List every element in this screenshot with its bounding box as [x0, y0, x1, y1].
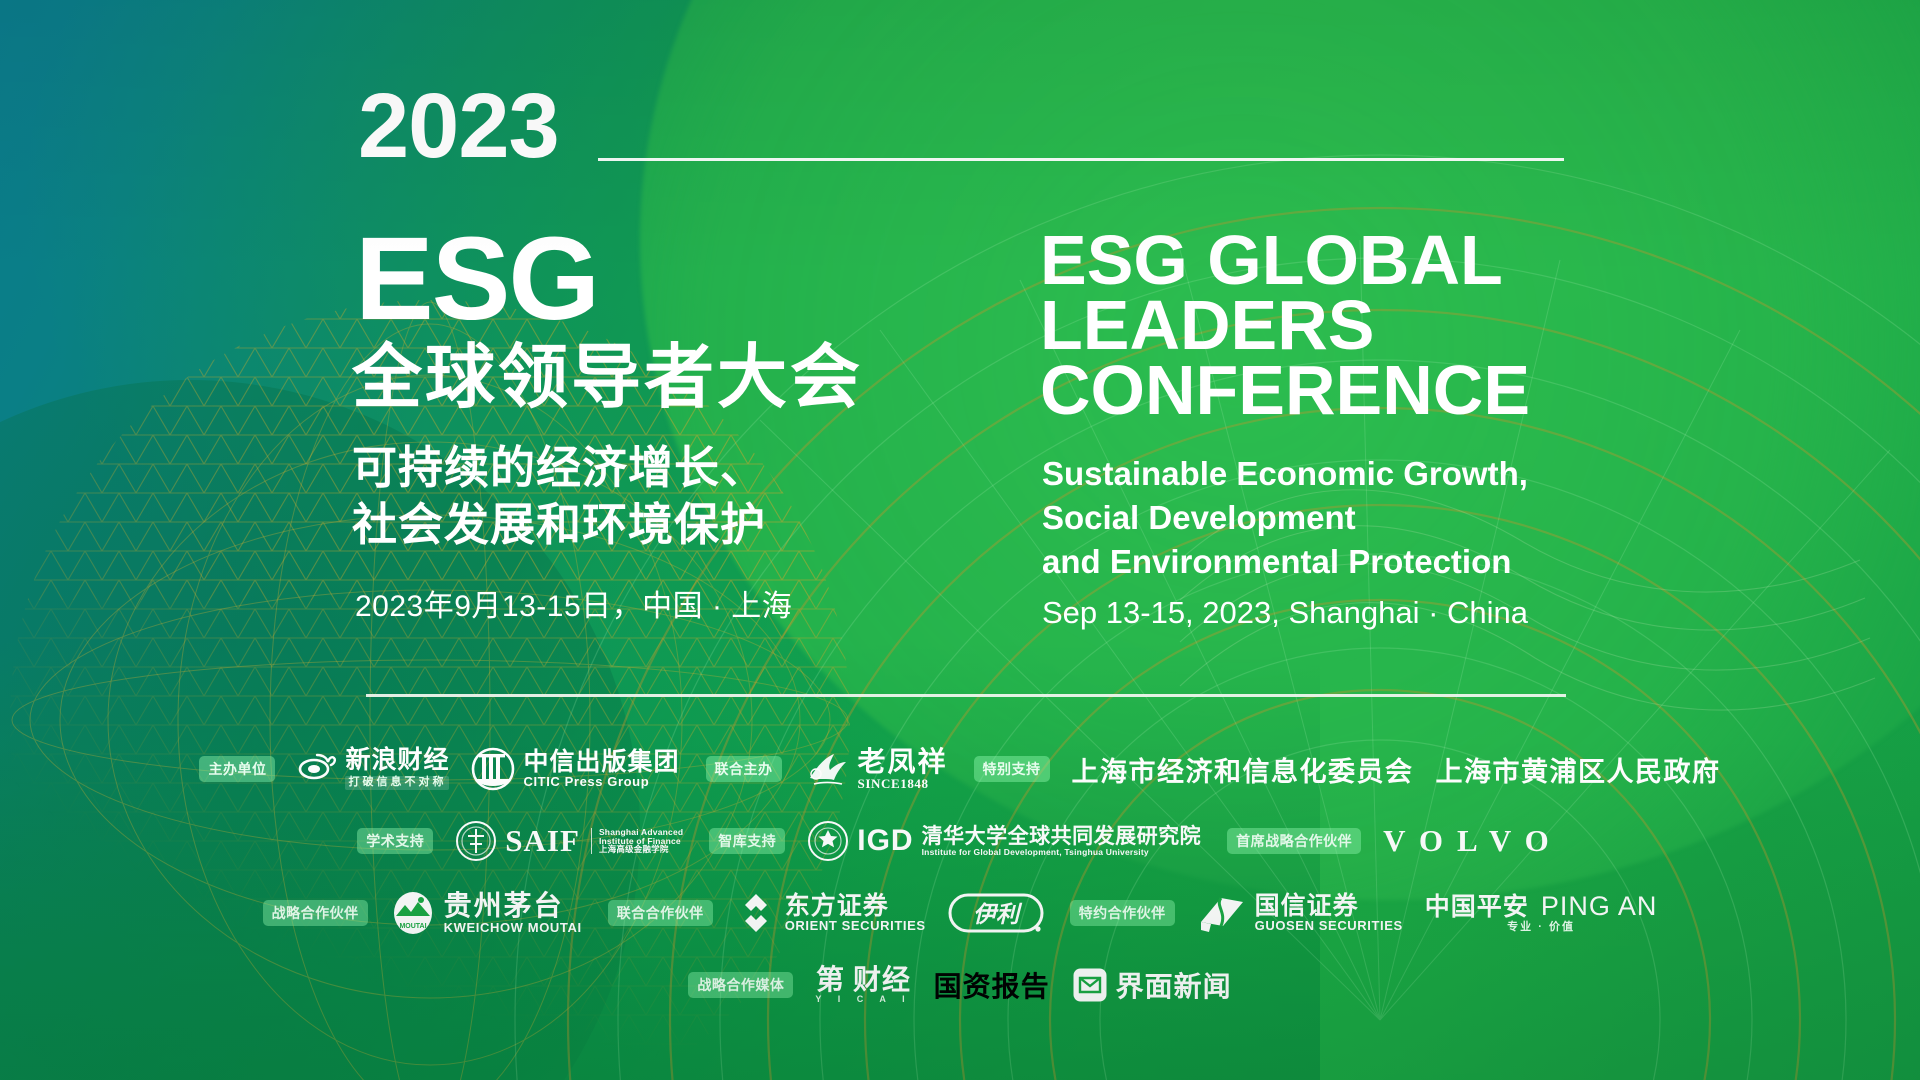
kweichow-moutai-en: KWEICHOW MOUTAI — [444, 921, 582, 935]
conference-subtitle-cn-line2: 社会发展和环境保护 — [352, 497, 766, 554]
svg-text:伊利: 伊利 — [973, 902, 1023, 927]
guosen-ribbon-icon — [1197, 892, 1247, 934]
ping-an-cn: 中国平安 — [1425, 894, 1529, 920]
saif-cn-line3: 上海高级金融学院 — [599, 845, 683, 854]
igd-abbr: IGD — [857, 824, 913, 858]
conference-poster: 2023 ESG 全球领导者大会 可持续的经济增长、 社会发展和环境保护 202… — [0, 0, 1920, 1080]
sina-finance-tagline: 打破信息不对称 — [345, 776, 449, 789]
conference-subtitle-en-line2: Social Development — [1042, 496, 1528, 540]
ping-an-tagline: 专业 · 价值 — [1507, 922, 1575, 933]
yicai-text: 第 财经 Y I C A I — [815, 966, 911, 1004]
logo-guozi-report[interactable]: 国资报告 — [934, 965, 1050, 1005]
esg-abbreviation: ESG — [355, 225, 598, 334]
igd-cn: 清华大学全球共同发展研究院 — [922, 826, 1202, 848]
conference-subtitle-cn: 可持续的经济增长、 社会发展和环境保护 — [352, 440, 766, 553]
sponsors-divider-line — [366, 694, 1566, 697]
sponsor-chip-strategic-media: 战略合作媒体 — [688, 972, 793, 998]
sponsor-chip-special-support: 特别支持 — [974, 756, 1050, 782]
kweichow-moutai-text: 贵州茅台 KWEICHOW MOUTAI — [444, 892, 582, 935]
orient-securities-text: 东方证券 ORIENT SECURITIES — [785, 893, 926, 933]
sponsor-row: 战略合作伙伴 MOUTAI 贵州茅台 KWEICHOW MOUTAI — [0, 884, 1920, 942]
sponsor-group-think-tank-support: 智库支持 IGD 清华大学全球共同发展研究院 Institute for Glo… — [709, 820, 1201, 862]
conference-title-en-line1: ESG GLOBAL — [1040, 228, 1530, 293]
logo-lao-feng-xiang[interactable]: 老凤祥 SINCE1848 — [804, 748, 948, 791]
orient-securities-cn: 东方证券 — [785, 893, 926, 919]
sponsor-chip-chief-strategic-partner: 首席战略合作伙伴 — [1227, 828, 1361, 854]
logo-igd-tsinghua[interactable]: IGD 清华大学全球共同发展研究院 Institute for Global D… — [807, 820, 1201, 862]
citic-press-group-en: CITIC Press Group — [523, 775, 679, 789]
sponsor-group-strategic-media: 战略合作媒体 第 财经 Y I C A I 国资报告 — [688, 965, 1231, 1005]
yicai-cn: 第 财经 — [816, 966, 911, 995]
logo-jiemian-news[interactable]: 界面新闻 — [1072, 965, 1232, 1005]
orient-diamond-icon — [735, 892, 777, 934]
sponsor-chip-strategic-partner: 战略合作伙伴 — [263, 900, 368, 926]
tsinghua-seal-icon — [807, 820, 849, 862]
page-title-year: 2023 — [358, 80, 559, 172]
sponsor-chip-joint-partner: 联合合作伙伴 — [608, 900, 713, 926]
citic-pillar-icon — [471, 747, 515, 791]
sponsor-group-joint-partner: 联合合作伙伴 东方证券 ORIENT SECURITIES — [608, 891, 1044, 935]
sponsor-group-co-organizer: 联合主办 老凤祥 SINCE1848 — [706, 748, 948, 791]
saif-fullname: Shanghai Advanced Institute of Finance 上… — [591, 828, 683, 854]
conference-date-en: Sep 13-15, 2023, Shanghai · China — [1042, 597, 1528, 628]
lao-feng-xiang-since: SINCE1848 — [858, 777, 948, 791]
lao-feng-xiang-cn: 老凤祥 — [858, 748, 948, 777]
saif-text: SAIF — [505, 825, 580, 857]
conference-date-cn: 2023年9月13-15日，中国 · 上海 — [355, 592, 792, 622]
sina-finance-text: 新浪财经 打破信息不对称 — [345, 748, 449, 789]
logo-sina-finance[interactable]: 新浪财经 打破信息不对称 — [297, 748, 449, 789]
sponsor-chip-organizer: 主办单位 — [199, 756, 275, 782]
sponsor-group-special-support: 特别支持 上海市经济和信息化委员会 上海市黄浦区人民政府 — [974, 750, 1721, 789]
conference-subtitle-en-line1: Sustainable Economic Growth, — [1042, 452, 1528, 496]
citic-press-group-cn: 中信出版集团 — [523, 749, 679, 775]
igd-en: Institute for Global Development, Tsingh… — [922, 848, 1202, 857]
logo-yili[interactable]: 伊利 — [948, 891, 1044, 935]
sponsor-chip-academic-support: 学术支持 — [357, 828, 433, 854]
sponsor-group-academic-support: 学术支持 SAIF Shanghai Advanced I — [357, 820, 683, 862]
conference-title-en-line2: LEADERS — [1040, 293, 1530, 358]
logo-orient-securities[interactable]: 东方证券 ORIENT SECURITIES — [735, 892, 926, 934]
igd-fullname: 清华大学全球共同发展研究院 Institute for Global Devel… — [922, 826, 1202, 857]
sponsor-row: 战略合作媒体 第 财经 Y I C A I 国资报告 — [0, 956, 1920, 1014]
yicai-en: Y I C A I — [815, 995, 911, 1004]
sina-finance-cn: 新浪财经 — [345, 748, 449, 774]
header-divider-line — [598, 158, 1564, 161]
sponsor-group-featured-partner: 特约合作伙伴 国信证券 GUOSEN SECURITIES — [1070, 892, 1658, 934]
logo-citic-press-group[interactable]: 中信出版集团 CITIC Press Group — [471, 747, 679, 791]
sponsor-group-organizer: 主办单位 新浪财经 打破信息不对称 — [199, 747, 679, 791]
ping-an-text: 中国平安 PING AN 专业 · 价值 — [1425, 892, 1658, 934]
sponsors-section: 主办单位 新浪财经 打破信息不对称 — [0, 740, 1920, 1028]
svg-text:MOUTAI: MOUTAI — [399, 923, 426, 930]
sponsor-group-strategic-partner: 战略合作伙伴 MOUTAI 贵州茅台 KWEICHOW MOUTAI — [263, 890, 582, 936]
sponsor-group-chief-strategic-partner: 首席战略合作伙伴 VOLVO — [1227, 823, 1563, 859]
conference-title-cn: 全球领导者大会 — [352, 342, 863, 412]
conference-title-en-line3: CONFERENCE — [1040, 358, 1530, 423]
sponsor-row: 学术支持 SAIF Shanghai Advanced I — [0, 812, 1920, 870]
conference-subtitle-cn-line1: 可持续的经济增长、 — [352, 440, 766, 497]
sponsor-chip-co-organizer: 联合主办 — [706, 756, 782, 782]
sponsor-chip-think-tank-support: 智库支持 — [709, 828, 785, 854]
logo-guosen-securities[interactable]: 国信证券 GUOSEN SECURITIES — [1197, 892, 1403, 934]
kweichow-moutai-cn: 贵州茅台 — [444, 892, 582, 921]
yili-oval-icon: 伊利 — [948, 891, 1044, 935]
sina-eye-icon — [297, 752, 337, 786]
citic-press-group-text: 中信出版集团 CITIC Press Group — [523, 749, 679, 789]
ping-an-en: PING AN — [1541, 892, 1658, 920]
jiemian-news-cn: 界面新闻 — [1116, 965, 1232, 1005]
phoenix-icon — [804, 748, 850, 790]
logo-shanghai-economy-info-commission[interactable]: 上海市经济和信息化委员会 — [1072, 750, 1414, 789]
logo-saif[interactable]: SAIF Shanghai Advanced Institute of Fina… — [455, 820, 683, 862]
conference-subtitle-en-line3: and Environmental Protection — [1042, 540, 1528, 584]
guosen-securities-text: 国信证券 GUOSEN SECURITIES — [1255, 893, 1403, 933]
saif-seal-icon — [455, 820, 497, 862]
jiemian-square-icon — [1072, 967, 1108, 1003]
orient-securities-en: ORIENT SECURITIES — [785, 919, 926, 933]
logo-yicai[interactable]: 第 财经 Y I C A I — [815, 966, 911, 1004]
moutai-mountain-icon: MOUTAI — [390, 890, 436, 936]
logo-kweichow-moutai[interactable]: MOUTAI 贵州茅台 KWEICHOW MOUTAI — [390, 890, 582, 936]
guosen-securities-cn: 国信证券 — [1255, 893, 1403, 919]
logo-ping-an[interactable]: 中国平安 PING AN 专业 · 价值 — [1425, 892, 1658, 934]
sponsor-chip-featured-partner: 特约合作伙伴 — [1070, 900, 1175, 926]
guosen-securities-en: GUOSEN SECURITIES — [1255, 919, 1403, 933]
conference-title-en: ESG GLOBAL LEADERS CONFERENCE — [1040, 228, 1530, 423]
logo-volvo[interactable]: VOLVO — [1383, 823, 1563, 859]
sponsor-row: 主办单位 新浪财经 打破信息不对称 — [0, 740, 1920, 798]
conference-subtitle-en: Sustainable Economic Growth, Social Deve… — [1042, 452, 1528, 584]
lao-feng-xiang-text: 老凤祥 SINCE1848 — [858, 748, 948, 791]
saif-abbr: SAIF — [505, 825, 580, 857]
logo-huangpu-district-government[interactable]: 上海市黄浦区人民政府 — [1436, 750, 1721, 789]
